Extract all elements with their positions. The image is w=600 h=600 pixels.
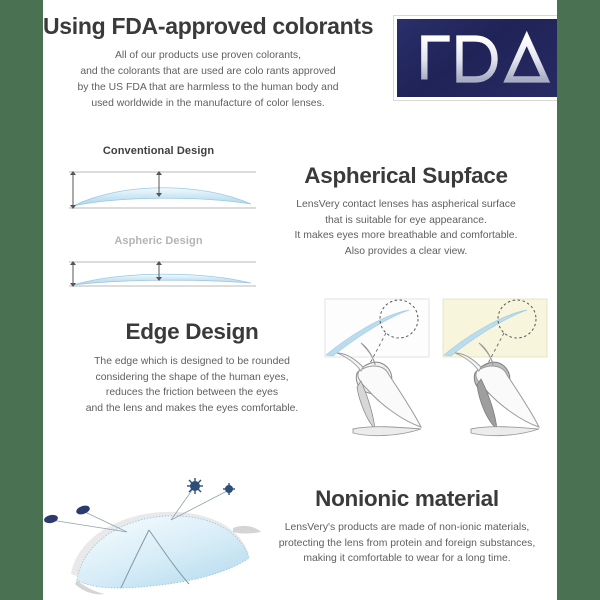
fda-logo-mark: [397, 19, 557, 97]
aspheric-lens-figure: [51, 253, 266, 303]
edge-title: Edge Design: [47, 320, 337, 345]
nonionic-body: LensVery's products are made of non-ioni…: [257, 520, 557, 567]
aspheric-design-label: Aspheric Design: [51, 235, 266, 247]
aspherical-title: Aspherical Supface: [255, 164, 557, 189]
colorants-section: Using FDA-approved colorants All of our …: [43, 14, 373, 112]
edge-eye-figure-left: [323, 297, 441, 442]
infographic-page: Using FDA-approved colorants All of our …: [0, 0, 600, 600]
nonionic-lens-figure: [43, 462, 283, 600]
infographic-canvas: Using FDA-approved colorants All of our …: [43, 0, 557, 600]
aspherical-body: LensVery contact lenses has aspherical s…: [255, 197, 557, 260]
frame-bar-left: [0, 0, 43, 600]
colorants-title: Using FDA-approved colorants: [43, 14, 373, 39]
fda-logo: [394, 16, 557, 100]
edge-section: Edge Design The edge which is designed t…: [47, 320, 337, 417]
nonionic-title: Nonionic material: [257, 487, 557, 512]
conventional-lens-figure: [51, 163, 266, 221]
edge-body: The edge which is designed to be rounded…: [47, 354, 337, 417]
edge-eye-figure-right: [441, 297, 557, 442]
frame-bar-right: [557, 0, 600, 600]
nonionic-section: Nonionic material LensVery's products ar…: [257, 487, 557, 567]
colorants-body: All of our products use proven colorants…: [43, 48, 373, 111]
aspherical-section: Aspherical Supface LensVery contact lens…: [255, 164, 557, 260]
conventional-design-label: Conventional Design: [51, 145, 266, 157]
lens-comparison-diagram: Conventional Design: [51, 145, 266, 303]
